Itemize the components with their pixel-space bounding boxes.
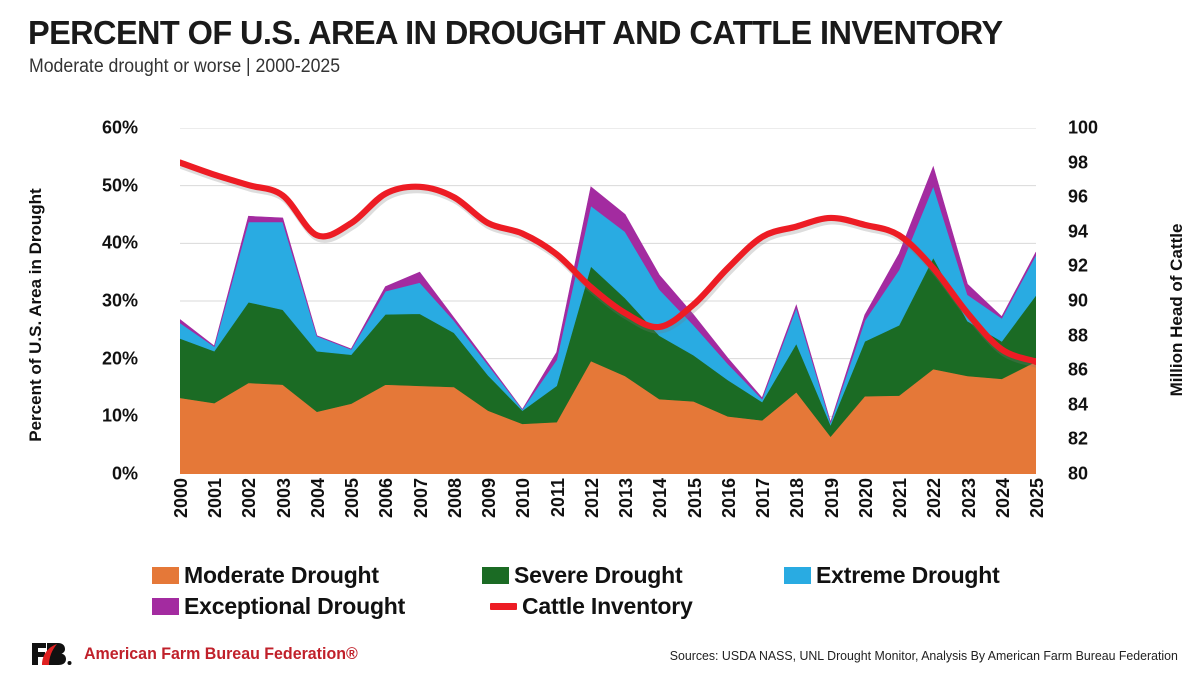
farm-bureau-logo-icon <box>30 641 74 667</box>
chart-legend: Moderate DroughtSevere DroughtExtreme Dr… <box>152 560 1052 622</box>
legend-item[interactable]: Exceptional Drought <box>152 593 405 620</box>
chart-page: PERCENT OF U.S. AREA IN DROUGHT AND CATT… <box>0 0 1200 676</box>
legend-label: Severe Drought <box>514 562 682 589</box>
legend-item[interactable]: Extreme Drought <box>784 562 1000 589</box>
legend-item[interactable]: Moderate Drought <box>152 562 379 589</box>
footer: American Farm Bureau Federation® Sources… <box>0 636 1200 676</box>
legend-item[interactable]: Severe Drought <box>482 562 682 589</box>
legend-color-swatch <box>784 567 811 584</box>
legend-row: Exceptional DroughtCattle Inventory <box>152 591 1052 622</box>
plot-area <box>180 128 1036 474</box>
x-axis-tick-label: 2011 <box>548 478 587 499</box>
legend-label: Extreme Drought <box>816 562 1000 589</box>
legend-color-swatch <box>482 567 509 584</box>
stacked-areas <box>180 167 1036 474</box>
brand-name: American Farm Bureau Federation® <box>84 644 358 664</box>
legend-label: Exceptional Drought <box>184 593 405 620</box>
legend-label: Moderate Drought <box>184 562 379 589</box>
x-axis-tick-label: 2025 <box>1027 478 1067 499</box>
legend-item[interactable]: Cattle Inventory <box>490 593 693 620</box>
legend-color-swatch <box>152 598 179 615</box>
sources-note: Sources: USDA NASS, UNL Drought Monitor,… <box>670 648 1178 663</box>
chart-svg <box>180 128 1036 474</box>
legend-label: Cattle Inventory <box>522 593 693 620</box>
legend-row: Moderate DroughtSevere DroughtExtreme Dr… <box>152 560 1052 591</box>
brand-logo-group: American Farm Bureau Federation® <box>30 641 375 667</box>
legend-color-swatch <box>152 567 179 584</box>
legend-line-swatch <box>490 603 517 610</box>
